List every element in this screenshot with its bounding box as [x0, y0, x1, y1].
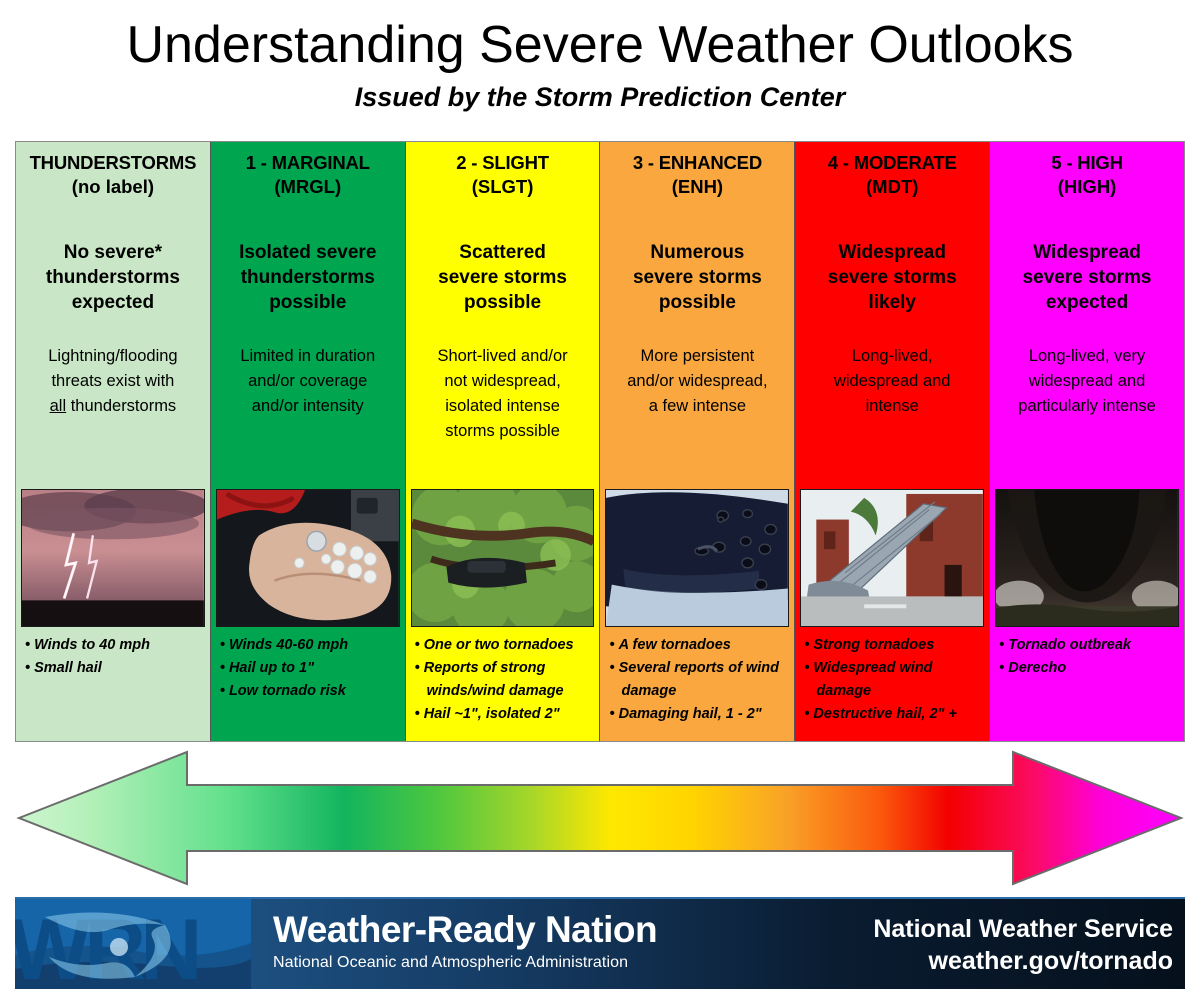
column-text-thunderstorms: THUNDERSTORMS(no label)No severe*thunder…: [16, 142, 210, 489]
category-detail: Lightning/floodingthreats exist withall …: [22, 344, 204, 419]
bullet-item: Winds 40-60 mph: [220, 634, 400, 657]
large-tornado-photo: [995, 489, 1179, 627]
bullet-item: Hail ~1", isolated 2": [415, 703, 595, 726]
tree-on-car-photo: [411, 489, 595, 627]
footer-program-text: Weather-Ready Nation National Oceanic an…: [273, 908, 657, 974]
bullet-item: A few tornadoes: [609, 634, 789, 657]
outlook-column-marginal: 1 - MARGINAL(MRGL)Isolated severethunder…: [211, 142, 406, 741]
category-description: Widespreadsevere stormslikely: [801, 240, 983, 315]
column-bullets-thunderstorms: Winds to 40 mphSmall hail: [16, 627, 210, 741]
bullet-item: Widespread wind damage: [804, 657, 984, 703]
column-bullets-slight: One or two tornadoesReports of strong wi…: [406, 627, 600, 741]
category-abbreviation: (MDT): [801, 175, 983, 199]
category-detail: Limited in durationand/or coverageand/or…: [217, 344, 399, 419]
bullet-item: Strong tornadoes: [804, 634, 984, 657]
column-text-moderate: 4 - MODERATE(MDT)Widespreadsevere storms…: [795, 142, 989, 489]
outlook-category-matrix: THUNDERSTORMS(no label)No severe*thunder…: [15, 141, 1185, 742]
bullet-item: Destructive hail, 2" +: [804, 703, 984, 726]
category-description: Isolated severethunderstormspossible: [217, 240, 399, 315]
outlook-column-slight: 2 - SLIGHT(SLGT)Scatteredsevere stormspo…: [406, 142, 601, 741]
category-title: 1 - MARGINAL: [217, 151, 399, 175]
bullet-item: Reports of strong winds/wind damage: [415, 657, 595, 703]
bullet-item: Winds to 40 mph: [25, 634, 205, 657]
column-text-high: 5 - HIGH(HIGH)Widespreadsevere stormsexp…: [990, 142, 1184, 489]
category-title: 3 - ENHANCED: [606, 151, 788, 175]
category-detail: Long-lived,widespread andintense: [801, 344, 983, 419]
collapsed-building-roof-photo: [800, 489, 984, 627]
column-text-enhanced: 3 - ENHANCED(ENH)Numeroussevere stormspo…: [600, 142, 794, 489]
page-subtitle: Issued by the Storm Prediction Center: [0, 80, 1200, 114]
infographic-page: Understanding Severe Weather Outlooks Is…: [0, 0, 1200, 995]
category-detail: Long-lived, verywidespread andparticular…: [996, 344, 1178, 419]
category-title: 2 - SLIGHT: [412, 151, 594, 175]
service-name: National Weather Service: [873, 913, 1173, 945]
column-bullets-marginal: Winds 40-60 mphHail up to 1"Low tornado …: [211, 627, 405, 741]
lightning-storm-photo: [21, 489, 205, 627]
bullet-item: Tornado outbreak: [999, 634, 1179, 657]
footer-contact-text: National Weather Service weather.gov/tor…: [873, 913, 1173, 977]
bullet-item: Several reports of wind damage: [609, 657, 789, 703]
category-abbreviation: (ENH): [606, 175, 788, 199]
bullet-item: Hail up to 1": [220, 657, 400, 680]
wrn-logo-graphic: WRN: [15, 899, 251, 989]
category-detail: Short-lived and/ornot widespread,isolate…: [412, 344, 594, 444]
column-bullets-enhanced: A few tornadoesSeveral reports of wind d…: [600, 627, 794, 741]
website-url[interactable]: weather.gov/tornado: [873, 945, 1173, 977]
category-description: No severe*thunderstormsexpected: [22, 240, 204, 315]
bullet-item: Derecho: [999, 657, 1179, 680]
title-block: Understanding Severe Weather Outlooks Is…: [0, 4, 1200, 136]
footer-banner: WRN Weather-Ready Nation National Oceani…: [15, 897, 1185, 989]
outlook-column-high: 5 - HIGH(HIGH)Widespreadsevere stormsexp…: [990, 142, 1184, 741]
column-text-marginal: 1 - MARGINAL(MRGL)Isolated severethunder…: [211, 142, 405, 489]
category-abbreviation: (HIGH): [996, 175, 1178, 199]
category-abbreviation: (SLGT): [412, 175, 594, 199]
impact-arrow-graphic: [15, 748, 1185, 888]
category-title: 5 - HIGH: [996, 151, 1178, 175]
category-description: Numeroussevere stormspossible: [606, 240, 788, 315]
agency-name: National Oceanic and Atmospheric Adminis…: [273, 952, 657, 974]
category-abbreviation: (MRGL): [217, 175, 399, 199]
category-description: Scatteredsevere stormspossible: [412, 240, 594, 315]
bullet-item: Damaging hail, 1 - 2": [609, 703, 789, 726]
column-text-slight: 2 - SLIGHT(SLGT)Scatteredsevere stormspo…: [406, 142, 600, 489]
category-description: Widespreadsevere stormsexpected: [996, 240, 1178, 315]
impact-arrow: Low Impact Dangerous Deadly: [15, 748, 1185, 888]
hail-damaged-car-hood-photo: [605, 489, 789, 627]
outlook-column-moderate: 4 - MODERATE(MDT)Widespreadsevere storms…: [795, 142, 990, 741]
category-abbreviation: (no label): [22, 175, 204, 199]
bullet-item: Low tornado risk: [220, 680, 400, 703]
category-title: THUNDERSTORMS: [22, 151, 204, 175]
category-detail: More persistentand/or widespread,a few i…: [606, 344, 788, 419]
column-bullets-moderate: Strong tornadoesWidespread wind damageDe…: [795, 627, 989, 741]
outlook-column-thunderstorms: THUNDERSTORMS(no label)No severe*thunder…: [16, 142, 211, 741]
weather-ready-nation-logo: WRN: [15, 899, 251, 989]
bullet-item: Small hail: [25, 657, 205, 680]
small-hail-in-hand-photo: [216, 489, 400, 627]
outlook-column-enhanced: 3 - ENHANCED(ENH)Numeroussevere stormspo…: [600, 142, 795, 741]
page-title: Understanding Severe Weather Outlooks: [0, 4, 1200, 76]
bullet-item: One or two tornadoes: [415, 634, 595, 657]
program-title: Weather-Ready Nation: [273, 908, 657, 952]
column-bullets-high: Tornado outbreakDerecho: [990, 627, 1184, 741]
category-title: 4 - MODERATE: [801, 151, 983, 175]
